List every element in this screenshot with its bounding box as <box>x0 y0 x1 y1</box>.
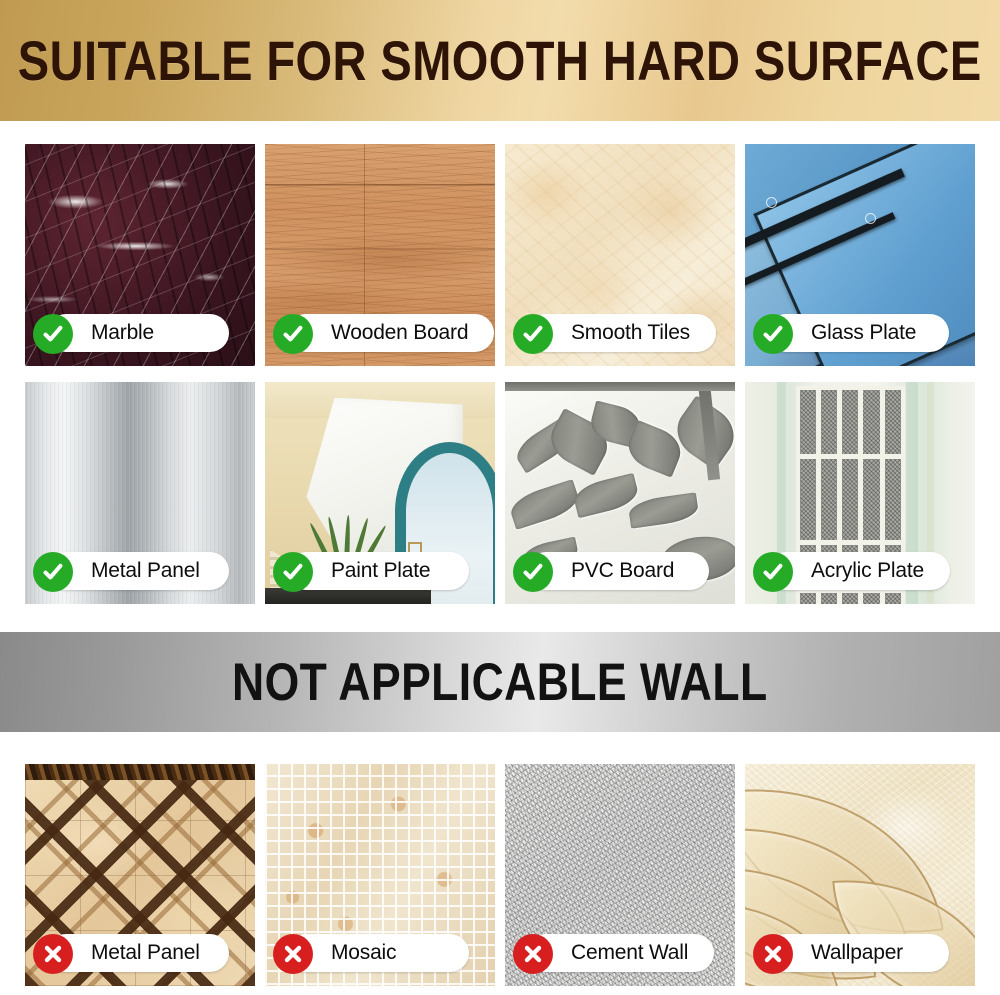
material-label-cement-wall: Cement Wall <box>513 934 714 972</box>
cross-icon <box>753 934 793 974</box>
material-tile-pvc-board[interactable]: PVC Board <box>505 382 735 604</box>
material-tile-metal-panel[interactable]: Metal Panel <box>25 382 255 604</box>
material-label-text: Marble <box>91 321 154 345</box>
suitable-materials-grid: Marble Wooden Board Smooth Tiles <box>0 144 1000 604</box>
material-label-wallpaper: Wallpaper <box>753 934 949 972</box>
material-label-text: Wooden Board <box>331 321 468 345</box>
check-icon <box>33 552 73 592</box>
material-tile-paint-plate[interactable]: Paint Plate <box>265 382 495 604</box>
material-label-glass-plate: Glass Plate <box>753 314 949 352</box>
material-label-acrylic-plate: Acrylic Plate <box>753 552 950 590</box>
check-icon <box>33 314 73 354</box>
check-icon <box>753 552 793 592</box>
check-icon <box>753 314 793 354</box>
material-label-text: Wallpaper <box>811 941 903 965</box>
suitable-banner-title: SUITABLE FOR SMOOTH HARD SURFACE <box>18 28 982 93</box>
material-label-text: Glass Plate <box>811 321 916 345</box>
check-icon <box>273 314 313 354</box>
not-applicable-banner-title: NOT APPLICABLE WALL <box>232 652 768 713</box>
cross-icon <box>33 934 73 974</box>
cross-icon <box>273 934 313 974</box>
material-label-text: PVC Board <box>571 559 674 583</box>
material-tile-mosaic[interactable]: Mosaic <box>265 764 495 986</box>
material-label-text: Cement Wall <box>571 941 688 965</box>
suitable-banner: SUITABLE FOR SMOOTH HARD SURFACE <box>0 0 1000 121</box>
material-label-paint-plate: Paint Plate <box>273 552 469 590</box>
material-label-metal-panel: Metal Panel <box>33 552 229 590</box>
material-tile-acrylic-plate[interactable]: Acrylic Plate <box>745 382 975 604</box>
material-label-text: Metal Panel <box>91 941 200 965</box>
material-label-smooth-tiles: Smooth Tiles <box>513 314 716 352</box>
material-label-metal-panel-excluded: Metal Panel <box>33 934 229 972</box>
material-label-text: Metal Panel <box>91 559 200 583</box>
not-applicable-materials-grid: Metal Panel Mosaic Cement Wall <box>0 764 1000 986</box>
material-label-text: Acrylic Plate <box>811 559 924 583</box>
material-label-pvc-board: PVC Board <box>513 552 709 590</box>
material-label-mosaic: Mosaic <box>273 934 469 972</box>
material-tile-smooth-tiles[interactable]: Smooth Tiles <box>505 144 735 366</box>
material-label-wooden-board: Wooden Board <box>273 314 494 352</box>
material-tile-wooden-board[interactable]: Wooden Board <box>265 144 495 366</box>
material-label-marble: Marble <box>33 314 229 352</box>
cross-icon <box>513 934 553 974</box>
material-tile-wallpaper[interactable]: Wallpaper <box>745 764 975 986</box>
material-tile-cement-wall[interactable]: Cement Wall <box>505 764 735 986</box>
material-label-text: Mosaic <box>331 941 396 965</box>
material-tile-marble[interactable]: Marble <box>25 144 255 366</box>
material-tile-metal-panel-excluded[interactable]: Metal Panel <box>25 764 255 986</box>
material-label-text: Paint Plate <box>331 559 430 583</box>
not-applicable-banner: NOT APPLICABLE WALL <box>0 632 1000 732</box>
check-icon <box>513 314 553 354</box>
material-tile-glass-plate[interactable]: Glass Plate <box>745 144 975 366</box>
check-icon <box>273 552 313 592</box>
check-icon <box>513 552 553 592</box>
material-label-text: Smooth Tiles <box>571 321 690 345</box>
